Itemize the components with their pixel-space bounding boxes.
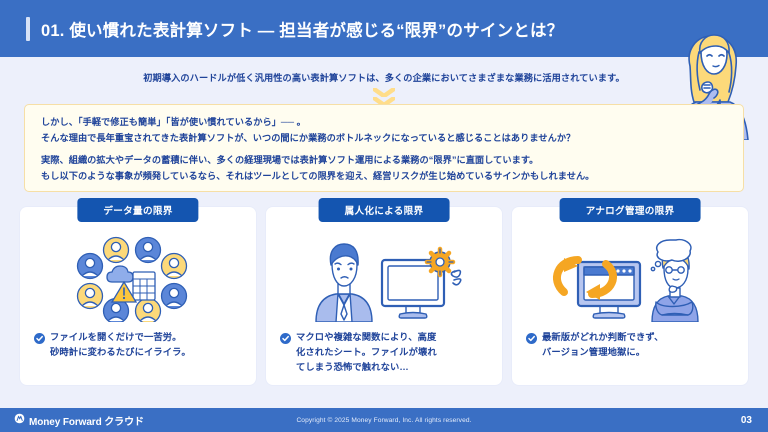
- people-network-cloud-spreadsheet-warning-illustration: [20, 233, 256, 325]
- note-p1-line1: しかし、「手軽で修正も簡単」「皆が使い慣れているから」── 。: [41, 115, 727, 131]
- card-text-line: てしまう恐怖で触れない…: [296, 362, 409, 372]
- note-box: しかし、「手軽で修正も簡単」「皆が使い慣れているから」── 。 そんな理由で長年…: [24, 104, 744, 192]
- card-body: ファイルを開くだけで一苦労。 砂時計に変わるたびにイライラ。: [34, 330, 246, 360]
- card-text-line: ファイルを開くだけで一苦労。: [50, 332, 182, 342]
- header-accent-bar: [26, 17, 30, 41]
- card-title: データ量の限界: [77, 198, 198, 222]
- card-text-line: 砂時計に変わるたびにイライラ。: [50, 347, 191, 357]
- page-number: 03: [741, 415, 752, 426]
- slide-footer: Copyright © 2025 Money Forward, Inc. All…: [0, 408, 768, 432]
- page-title: 01. 使い慣れた表計算ソフト ― 担当者が感じる“限界”のサインとは？: [41, 17, 563, 41]
- card-analog-management[interactable]: アナログ管理の限界: [512, 207, 748, 385]
- limit-cards-row: データ量の限界: [0, 207, 768, 392]
- sync-arrows-monitor-thinking-person-illustration: [512, 233, 748, 325]
- slide-header: 01. 使い慣れた表計算ソフト ― 担当者が感じる“限界”のサインとは？: [0, 0, 768, 57]
- card-personalization[interactable]: 属人化による限界: [266, 207, 502, 385]
- note-p1-line2: そんな理由で長年重宝されてきた表計算ソフトが、いつの間にか業務のボトルネックにな…: [41, 131, 727, 147]
- check-circle-icon: [34, 331, 45, 349]
- card-text: マクロや複雑な関数により、高度 化されたシート。ファイルが壊れ てしまう恐怖で触…: [296, 330, 437, 375]
- note-p2-line2: もし以下のような事象が頻発しているなら、それはツールとしての限界を迎え、経営リス…: [41, 169, 727, 185]
- card-text: 最新版がどれか判断できず、 バージョン管理地獄に。: [542, 330, 664, 360]
- card-title: アナログ管理の限界: [560, 198, 701, 222]
- card-text: ファイルを開くだけで一苦労。 砂時計に変わるたびにイライラ。: [50, 330, 191, 360]
- card-text-line: マクロや複雑な関数により、高度: [296, 332, 436, 342]
- note-spacer: [41, 146, 727, 153]
- card-body: 最新版がどれか判断できず、 バージョン管理地獄に。: [526, 330, 738, 360]
- card-text-line: 最新版がどれか判断できず、: [542, 332, 664, 342]
- worried-person-monitor-gear-illustration: [266, 233, 502, 325]
- check-circle-icon: [526, 331, 537, 349]
- note-p2-line1: 実際、組織の拡大やデータの蓄積に伴い、多くの経理現場では表計算ソフト運用による業…: [41, 153, 727, 169]
- card-title: 属人化による限界: [319, 198, 450, 222]
- card-body: マクロや複雑な関数により、高度 化されたシート。ファイルが壊れ てしまう恐怖で触…: [280, 330, 492, 375]
- card-text-line: バージョン管理地獄に。: [542, 347, 645, 357]
- card-data-volume[interactable]: データ量の限界: [20, 207, 256, 385]
- card-text-line: 化されたシート。ファイルが壊れ: [296, 347, 437, 357]
- check-circle-icon: [280, 331, 291, 349]
- footer-copyright: Copyright © 2025 Money Forward, Inc. All…: [0, 417, 768, 424]
- lead-sentence: 初期導入のハードルが低く汎用性の高い表計算ソフトは、多くの企業においてさまざまな…: [0, 70, 768, 84]
